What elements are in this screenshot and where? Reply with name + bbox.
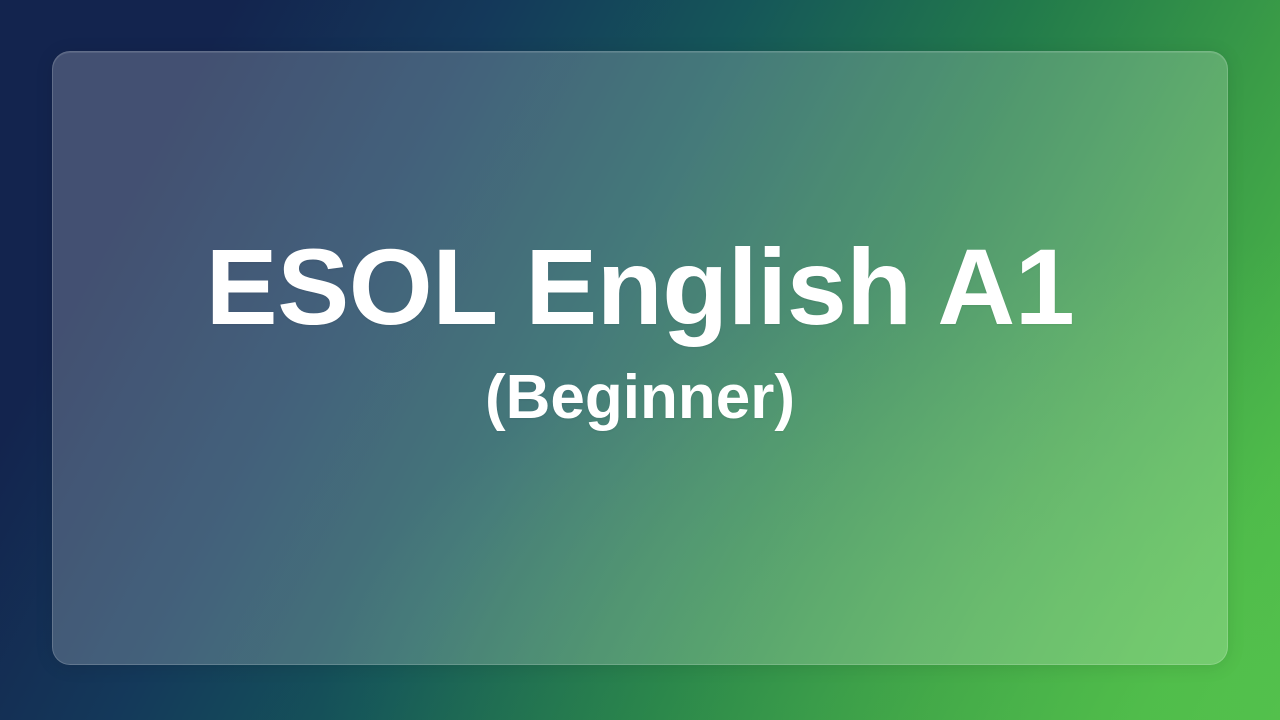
page-title: ESOL English A1 (206, 230, 1075, 344)
page-subtitle: (Beginner) (485, 364, 795, 432)
title-text-block: ESOL English A1 (Beginner) (53, 230, 1227, 433)
title-card: ESOL English A1 (Beginner) (52, 51, 1228, 665)
presentation-slide: ESOL English A1 (Beginner) (0, 0, 1280, 720)
